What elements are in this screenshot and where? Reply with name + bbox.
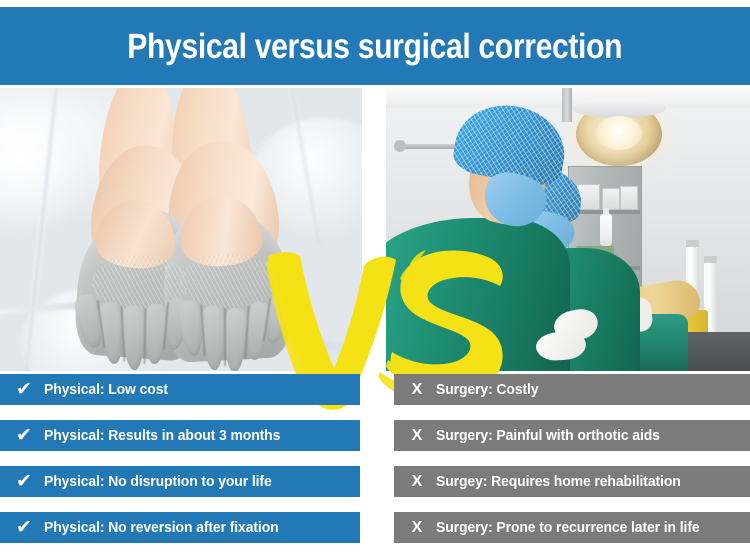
list-item[interactable]: ✔ Physical: Low cost: [0, 374, 360, 405]
list-item[interactable]: ✔ Physical: No disruption to your life: [0, 466, 360, 497]
check-icon: ✔: [12, 472, 36, 491]
check-icon: ✔: [12, 518, 36, 537]
surgical-lamp-arm: [562, 88, 572, 122]
list-item-label: Surgey: Requires home rehabilitation: [436, 473, 681, 490]
check-icon: ✔: [12, 380, 36, 399]
solution-bottle: [600, 214, 612, 246]
list-item[interactable]: X Surgey: Requires home rehabilitation: [394, 466, 750, 497]
header-banner: Physical versus surgical correction: [0, 7, 750, 85]
list-item-label: Surgery: Costly: [436, 381, 538, 398]
list-item-label: Physical: No reversion after fixation: [44, 519, 279, 536]
photo-comparison-row: [0, 88, 750, 371]
list-item-label: Physical: Low cost: [44, 381, 168, 398]
pros-list: ✔ Physical: Low cost ✔ Physical: Results…: [0, 374, 360, 558]
page-title: Physical versus surgical correction: [128, 29, 623, 64]
tube-cap: [686, 240, 699, 247]
cross-icon: X: [406, 520, 428, 536]
list-item[interactable]: X Surgery: Prone to recurrence later in …: [394, 512, 750, 543]
physical-treatment-photo: [0, 88, 362, 371]
toe-separator: [224, 308, 226, 366]
cross-icon: X: [406, 428, 428, 444]
list-item[interactable]: X Surgery: Costly: [394, 374, 750, 405]
cross-icon: X: [406, 474, 428, 490]
wall-rail-end: [394, 140, 406, 152]
cons-list: X Surgery: Costly X Surgery: Painful wit…: [394, 374, 750, 558]
list-item[interactable]: ✔ Physical: Results in about 3 months: [0, 420, 360, 451]
surgical-lamp-core: [596, 116, 642, 150]
tube-cap: [704, 256, 717, 263]
list-item-label: Surgery: Painful with orthotic aids: [436, 427, 660, 444]
list-item-label: Physical: Results in about 3 months: [44, 427, 280, 444]
check-icon: ✔: [12, 426, 36, 445]
list-item[interactable]: X Surgery: Painful with orthotic aids: [394, 420, 750, 451]
list-item-label: Surgery: Prone to recurrence later in li…: [436, 519, 700, 536]
supply-box: [602, 188, 620, 210]
list-item-label: Physical: No disruption to your life: [44, 473, 272, 490]
surgical-lamp-rim: [572, 98, 666, 118]
list-item[interactable]: ✔ Physical: No reversion after fixation: [0, 512, 360, 543]
infographic-page: Physical versus surgical correction: [0, 0, 750, 558]
supply-box: [620, 186, 638, 210]
surgical-treatment-photo: [386, 88, 750, 371]
cross-icon: X: [406, 382, 428, 398]
